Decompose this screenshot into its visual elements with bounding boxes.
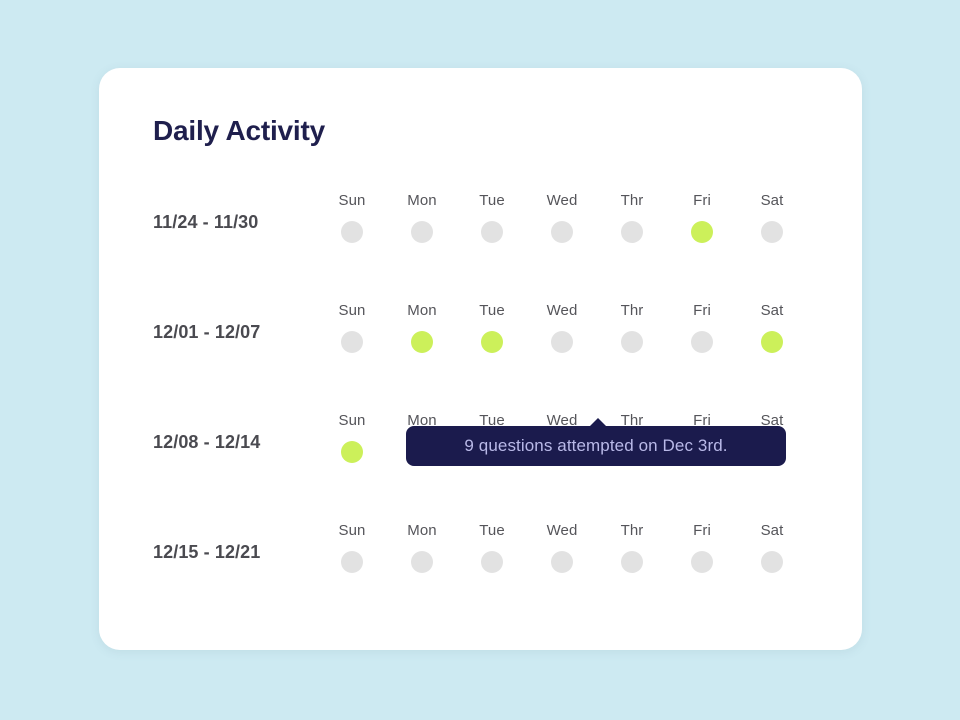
day-label: Fri (693, 192, 711, 210)
activity-dot[interactable] (341, 221, 363, 243)
day-grid: Sun Mon Tue Wed Thr Fri (317, 515, 807, 585)
activity-dot[interactable] (411, 551, 433, 573)
day-cell-fri[interactable]: Fri (667, 295, 737, 365)
day-cell-fri[interactable]: Fri (667, 515, 737, 585)
day-label: Thr (621, 302, 644, 320)
activity-dot[interactable] (341, 551, 363, 573)
day-label: Wed (547, 192, 578, 210)
day-cell-wed[interactable]: Wed (527, 295, 597, 365)
day-grid: Sun Mon Tue Wed Thr Fri (317, 295, 807, 365)
day-cell-sat[interactable]: Sat (737, 295, 807, 365)
day-label: Sat (761, 522, 784, 540)
day-label: Wed (547, 522, 578, 540)
activity-dot[interactable] (411, 221, 433, 243)
activity-dot[interactable] (551, 331, 573, 353)
activity-dot[interactable] (551, 221, 573, 243)
day-cell-tue[interactable]: Tue (457, 185, 527, 255)
day-label: Sun (339, 302, 366, 320)
day-cell-wed[interactable]: Wed (527, 515, 597, 585)
activity-dot[interactable] (341, 331, 363, 353)
day-label: Mon (407, 522, 436, 540)
day-cell-mon[interactable]: Mon (387, 185, 457, 255)
activity-dot[interactable] (691, 331, 713, 353)
tooltip-text: 9 questions attempted on Dec 3rd. (464, 436, 727, 456)
day-cell-sun[interactable]: Sun (317, 515, 387, 585)
day-label: Fri (693, 522, 711, 540)
day-cell-mon[interactable]: Mon (387, 515, 457, 585)
day-cell-sun[interactable]: Sun (317, 405, 387, 475)
week-row: 11/24 - 11/30 Sun Mon Tue Wed Thr (99, 185, 862, 255)
day-label: Tue (479, 302, 505, 320)
day-cell-thr[interactable]: Thr (597, 185, 667, 255)
day-label: Sun (339, 412, 366, 430)
day-cell-sun[interactable]: Sun (317, 185, 387, 255)
activity-dot[interactable] (551, 551, 573, 573)
week-row: 12/15 - 12/21 Sun Mon Tue Wed Thr (99, 515, 862, 585)
day-cell-mon[interactable]: Mon (387, 295, 457, 365)
day-label: Mon (407, 192, 436, 210)
week-row: 12/01 - 12/07 Sun Mon Tue Wed Thr (99, 295, 862, 365)
day-label: Wed (547, 302, 578, 320)
activity-dot[interactable] (691, 551, 713, 573)
day-label: Sat (761, 302, 784, 320)
day-cell-sun[interactable]: Sun (317, 295, 387, 365)
activity-dot[interactable] (691, 221, 713, 243)
day-cell-thr[interactable]: Thr (597, 515, 667, 585)
day-cell-fri[interactable]: Fri (667, 185, 737, 255)
week-date-range: 12/15 - 12/21 (153, 542, 260, 563)
activity-dot[interactable] (341, 441, 363, 463)
activity-dot[interactable] (761, 221, 783, 243)
activity-dot[interactable] (621, 331, 643, 353)
day-label: Sat (761, 192, 784, 210)
day-cell-tue[interactable]: Tue (457, 295, 527, 365)
activity-dot[interactable] (621, 551, 643, 573)
activity-dot[interactable] (481, 331, 503, 353)
week-date-range: 11/24 - 11/30 (153, 212, 258, 233)
activity-dot[interactable] (481, 221, 503, 243)
day-cell-tue[interactable]: Tue (457, 515, 527, 585)
daily-activity-card: Daily Activity 11/24 - 11/30 Sun Mon Tue… (99, 68, 862, 650)
day-cell-wed[interactable]: Wed (527, 185, 597, 255)
day-label: Tue (479, 522, 505, 540)
day-cell-thr[interactable]: Thr (597, 295, 667, 365)
day-label: Thr (621, 192, 644, 210)
day-cell-sat[interactable]: Sat (737, 515, 807, 585)
activity-dot[interactable] (411, 331, 433, 353)
day-grid: Sun Mon Tue Wed Thr Fri (317, 185, 807, 255)
day-label: Sun (339, 522, 366, 540)
day-label: Thr (621, 522, 644, 540)
activity-dot[interactable] (761, 551, 783, 573)
day-label: Mon (407, 302, 436, 320)
day-label: Fri (693, 302, 711, 320)
page-title: Daily Activity (153, 115, 325, 147)
week-date-range: 12/08 - 12/14 (153, 432, 260, 453)
activity-tooltip: 9 questions attempted on Dec 3rd. (406, 426, 786, 466)
activity-dot[interactable] (621, 221, 643, 243)
day-label: Sun (339, 192, 366, 210)
tooltip-arrow-icon (589, 418, 607, 427)
day-label: Tue (479, 192, 505, 210)
activity-dot[interactable] (761, 331, 783, 353)
day-cell-sat[interactable]: Sat (737, 185, 807, 255)
week-date-range: 12/01 - 12/07 (153, 322, 260, 343)
activity-dot[interactable] (481, 551, 503, 573)
